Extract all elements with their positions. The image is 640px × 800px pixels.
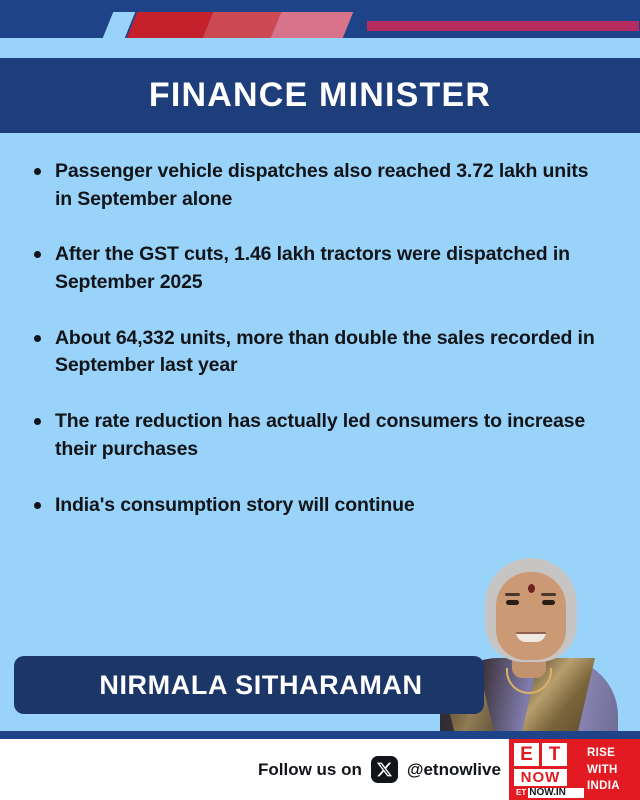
etnow-logo: E T NOW ET NOW.IN RISE WITH INDIA: [509, 739, 640, 800]
bullet-dot-icon: [34, 251, 41, 258]
bullet-text: After the GST cuts, 1.46 lakh tractors w…: [55, 241, 609, 296]
etnow-letter-t: T: [542, 743, 567, 766]
etnow-tagline: RISE WITH INDIA: [587, 739, 640, 800]
header-decoration: [0, 0, 640, 58]
portrait-eye-right: [542, 600, 555, 605]
follow-us-group: Follow us on @etnowlive: [258, 756, 501, 783]
x-twitter-icon[interactable]: [371, 756, 398, 783]
bullet-text: The rate reduction has actually led cons…: [55, 408, 609, 463]
etnow-tagline-line3: INDIA: [587, 778, 640, 795]
etnow-tagline-line2: WITH: [587, 762, 640, 779]
decor-slash-mid-red: [203, 12, 282, 38]
etnow-website-suffix: NOW.IN: [529, 788, 566, 798]
etnow-et-row: E T: [514, 743, 584, 766]
speaker-name: NIRMALA SITHARAMAN: [99, 670, 422, 701]
decor-accent-line: [367, 21, 639, 31]
footer-navy-strip: [0, 731, 640, 739]
portrait-eyebrow-left: [505, 593, 520, 596]
portrait-eyebrow-right: [541, 593, 556, 596]
etnow-logo-mark: E T NOW ET NOW.IN: [509, 739, 587, 800]
decor-slash-dark-red: [127, 12, 214, 38]
list-item: India's consumption story will continue: [34, 492, 609, 520]
list-item: About 64,332 units, more than double the…: [34, 325, 609, 380]
speaker-name-banner: NIRMALA SITHARAMAN: [14, 656, 484, 714]
etnow-letter-e: E: [514, 743, 539, 766]
etnow-tagline-line1: RISE: [587, 745, 640, 762]
page-title: FINANCE MINISTER: [149, 76, 491, 115]
list-item: Passenger vehicle dispatches also reache…: [34, 158, 609, 213]
portrait-eye-left: [506, 600, 519, 605]
etnow-website-prefix: ET: [514, 788, 528, 798]
bullet-text: About 64,332 units, more than double the…: [55, 325, 609, 380]
bullet-dot-icon: [34, 418, 41, 425]
list-item: The rate reduction has actually led cons…: [34, 408, 609, 463]
decor-slash-pink: [271, 12, 354, 38]
bullet-list: Passenger vehicle dispatches also reache…: [34, 158, 609, 547]
bullet-text: India's consumption story will continue: [55, 492, 415, 520]
portrait-bindi: [528, 584, 535, 593]
speaker-portrait: [432, 540, 622, 745]
title-bar: FINANCE MINISTER: [0, 58, 640, 133]
bullet-dot-icon: [34, 335, 41, 342]
news-card: FINANCE MINISTER Passenger vehicle dispa…: [0, 0, 640, 800]
bullet-dot-icon: [34, 502, 41, 509]
etnow-website: ET NOW.IN: [514, 788, 584, 798]
social-handle[interactable]: @etnowlive: [407, 760, 501, 780]
follow-label: Follow us on: [258, 760, 362, 780]
list-item: After the GST cuts, 1.46 lakh tractors w…: [34, 241, 609, 296]
bullet-dot-icon: [34, 168, 41, 175]
etnow-word-now: NOW: [514, 769, 567, 786]
bullet-text: Passenger vehicle dispatches also reache…: [55, 158, 609, 213]
